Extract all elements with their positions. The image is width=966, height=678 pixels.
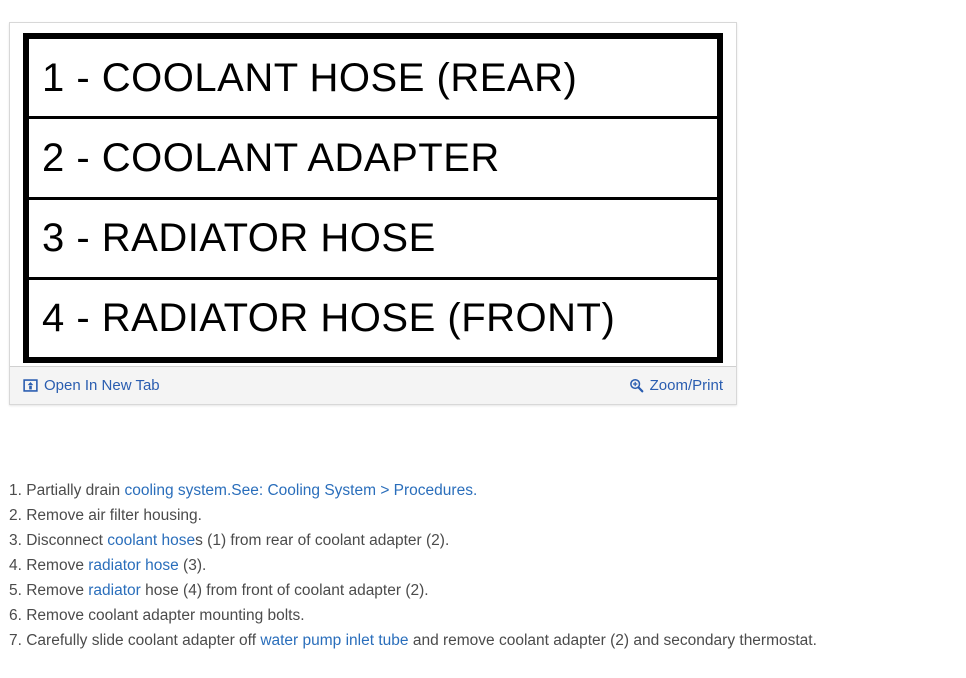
step-text: Remove bbox=[26, 582, 88, 599]
legend-row: 1 - COOLANT HOSE (REAR) bbox=[29, 39, 717, 119]
step-number: 3. bbox=[9, 532, 26, 549]
legend-row-label: 4 - RADIATOR HOSE (FRONT) bbox=[29, 298, 615, 338]
step-text: s (1) from rear of coolant adapter (2). bbox=[195, 532, 449, 549]
step-number: 7. bbox=[9, 632, 26, 649]
step-text: Partially drain bbox=[26, 482, 124, 499]
step-link[interactable]: radiator hose bbox=[88, 557, 178, 574]
zoom-print-button[interactable]: Zoom/Print bbox=[629, 378, 723, 393]
step-number: 2. bbox=[9, 507, 26, 524]
step-text: (3). bbox=[179, 557, 207, 574]
step-text: and remove coolant adapter (2) and secon… bbox=[409, 632, 817, 649]
open-in-new-tab-button[interactable]: Open In New Tab bbox=[23, 378, 160, 393]
external-link-icon bbox=[23, 378, 38, 393]
procedure-step: 3. Disconnect coolant hoses (1) from rea… bbox=[9, 528, 959, 553]
step-number: 6. bbox=[9, 607, 26, 624]
image-viewer-toolbar: Open In New Tab Zoom/Print bbox=[10, 366, 736, 404]
step-text: Disconnect bbox=[26, 532, 107, 549]
legend-row: 4 - RADIATOR HOSE (FRONT) bbox=[29, 280, 717, 357]
step-link[interactable]: cooling system.See: Cooling System > Pro… bbox=[124, 482, 477, 499]
open-in-new-tab-label: Open In New Tab bbox=[44, 378, 160, 393]
diagram-image-area[interactable]: 1 - COOLANT HOSE (REAR) 2 - COOLANT ADAP… bbox=[10, 23, 736, 367]
step-text: Remove air filter housing. bbox=[26, 507, 202, 524]
step-text: Remove coolant adapter mounting bolts. bbox=[26, 607, 304, 624]
step-text: hose (4) from front of coolant adapter (… bbox=[141, 582, 429, 599]
legend-row: 3 - RADIATOR HOSE bbox=[29, 200, 717, 280]
step-number: 1. bbox=[9, 482, 26, 499]
step-link[interactable]: radiator bbox=[88, 582, 141, 599]
legend-row-label: 3 - RADIATOR HOSE bbox=[29, 218, 436, 258]
image-viewer-panel: 1 - COOLANT HOSE (REAR) 2 - COOLANT ADAP… bbox=[9, 22, 737, 405]
procedure-step: 5. Remove radiator hose (4) from front o… bbox=[9, 578, 959, 603]
step-link[interactable]: water pump inlet tube bbox=[260, 632, 408, 649]
magnifier-plus-icon bbox=[629, 378, 644, 393]
procedure-step: 7. Carefully slide coolant adapter off w… bbox=[9, 628, 959, 653]
procedure-step: 6. Remove coolant adapter mounting bolts… bbox=[9, 603, 959, 628]
legend-row-label: 1 - COOLANT HOSE (REAR) bbox=[29, 58, 577, 98]
zoom-print-label: Zoom/Print bbox=[650, 378, 723, 393]
procedure-step: 2. Remove air filter housing. bbox=[9, 503, 959, 528]
legend-row: 2 - COOLANT ADAPTER bbox=[29, 119, 717, 199]
procedure-steps-list: 1. Partially drain cooling system.See: C… bbox=[9, 478, 959, 653]
step-number: 4. bbox=[9, 557, 26, 574]
step-text: Carefully slide coolant adapter off bbox=[26, 632, 260, 649]
procedure-step: 4. Remove radiator hose (3). bbox=[9, 553, 959, 578]
callout-legend-table: 1 - COOLANT HOSE (REAR) 2 - COOLANT ADAP… bbox=[23, 33, 723, 363]
step-number: 5. bbox=[9, 582, 26, 599]
procedure-step: 1. Partially drain cooling system.See: C… bbox=[9, 478, 959, 503]
step-link[interactable]: coolant hose bbox=[107, 532, 195, 549]
legend-row-label: 2 - COOLANT ADAPTER bbox=[29, 138, 500, 178]
step-text: Remove bbox=[26, 557, 88, 574]
